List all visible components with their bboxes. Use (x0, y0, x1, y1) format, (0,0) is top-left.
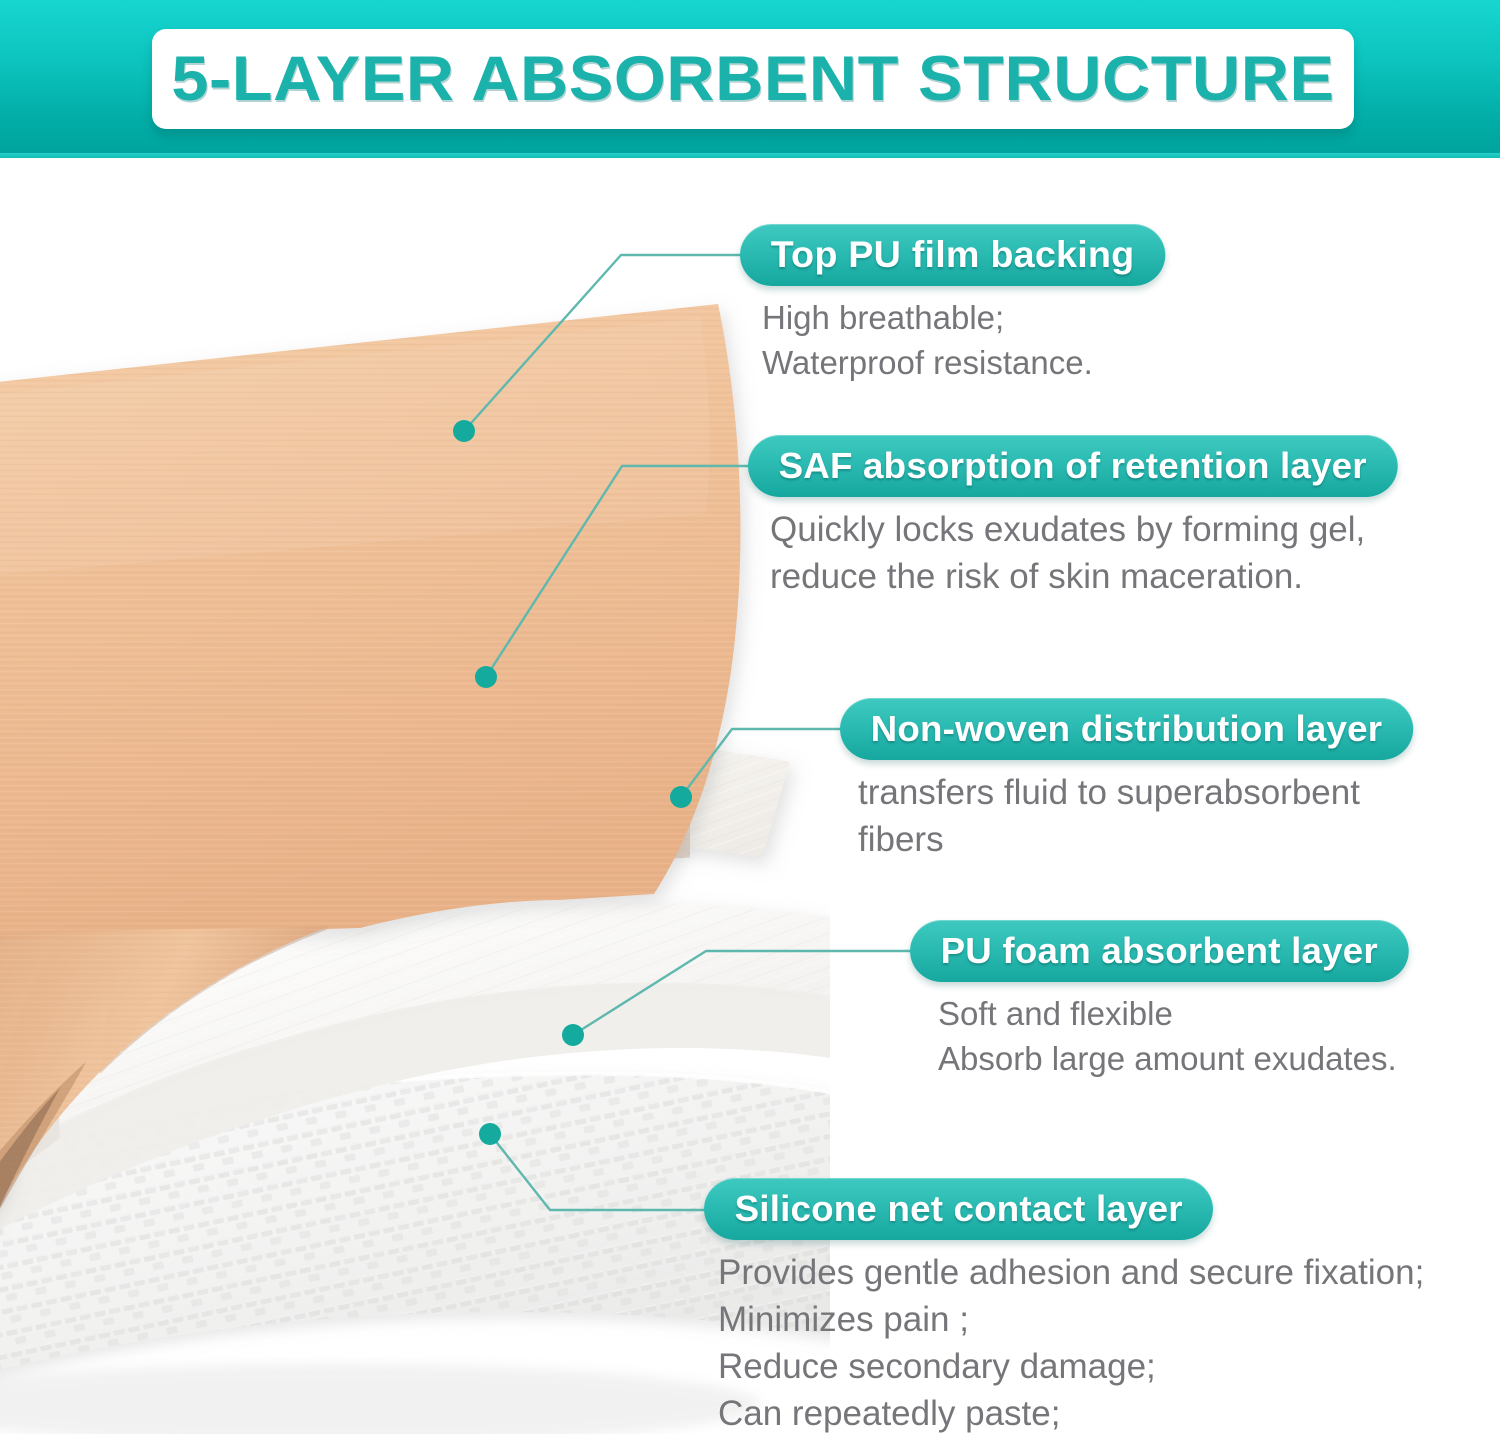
callout-label-pill-3[interactable]: Non-woven distribution layer (840, 698, 1413, 760)
callout-label-pill-2[interactable]: SAF absorption of retention layer (748, 435, 1397, 497)
callout-description-4: Soft and flexible Absorb large amount ex… (938, 991, 1399, 1081)
callout-non-woven-distribution-layer: Non-woven distribution layer transfers f… (840, 698, 1402, 863)
callout-pu-foam-absorbent-layer: PU foam absorbent layer Soft and flexibl… (910, 920, 1399, 1081)
callout-label-pill-4[interactable]: PU foam absorbent layer (910, 920, 1409, 982)
callout-label-pill-5[interactable]: Silicone net contact layer (704, 1178, 1213, 1240)
callout-saf-absorption-of-retention-layer: SAF absorption of retention layer Quickl… (748, 435, 1385, 600)
infographic-root: 5-LAYER ABSORBENT STRUCTURE (0, 0, 1500, 1434)
title-plate: 5-LAYER ABSORBENT STRUCTURE (152, 29, 1354, 129)
layer-pu-film-backing (0, 304, 740, 940)
callout-description-1: High breathable; Waterproof resistance. (762, 295, 1157, 385)
callout-top-pu-film-backing: Top PU film backing High breathable; Wat… (740, 224, 1157, 385)
page-title: 5-LAYER ABSORBENT STRUCTURE (116, 29, 1390, 129)
callout-label-pill-1[interactable]: Top PU film backing (740, 224, 1165, 286)
callout-description-3: transfers fluid to superabsorbent fibers (858, 769, 1402, 863)
callout-silicone-net-contact-layer: Silicone net contact layer Provides gent… (704, 1178, 1424, 1434)
callout-description-5: Provides gentle adhesion and secure fixa… (718, 1249, 1424, 1434)
callout-description-2: Quickly locks exudates by forming gel, r… (770, 506, 1385, 600)
